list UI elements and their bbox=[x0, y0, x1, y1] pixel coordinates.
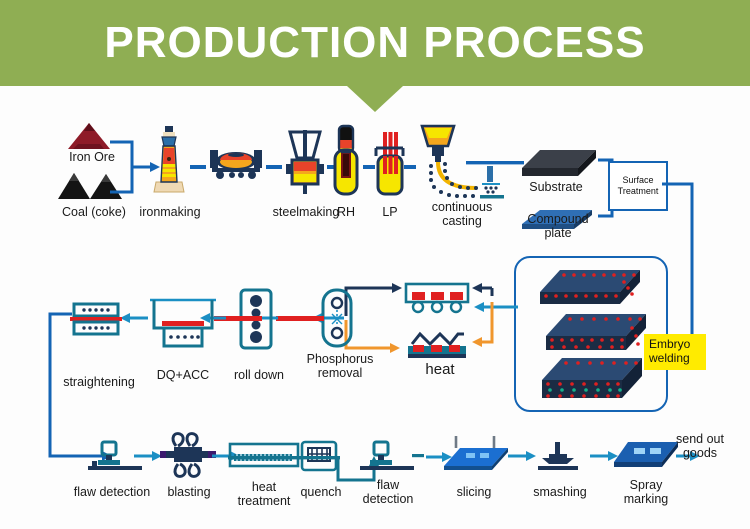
press-icon bbox=[534, 440, 582, 472]
dq-acc-label: DQ+ACC bbox=[152, 368, 214, 382]
reheat-furnace-icon bbox=[400, 282, 476, 368]
production-process-diagram: PRODUCTION PROCESS Iron Ore Coal (coke) bbox=[0, 0, 750, 529]
header-banner: PRODUCTION PROCESS bbox=[0, 0, 750, 86]
flaw-detection-1-label: flaw detection bbox=[52, 485, 172, 499]
iron-ore-mound-icon bbox=[62, 122, 116, 152]
hot-plate-strip-1 bbox=[276, 315, 326, 323]
smashing-label: smashing bbox=[524, 485, 596, 499]
welded-stack-icon bbox=[524, 266, 656, 402]
cooling-unit-icon bbox=[148, 294, 218, 350]
coal-coke-label: Coal (coke) bbox=[44, 205, 144, 219]
dash-connector-2 bbox=[266, 164, 286, 170]
continuous-casting-label: continuous casting bbox=[416, 200, 508, 228]
heat-right-loop-connector bbox=[466, 284, 500, 350]
slicing-label: slicing bbox=[442, 485, 506, 499]
ironmaking-label: ironmaking bbox=[134, 205, 206, 219]
embryo-welding-label: Embryo welding bbox=[644, 334, 706, 370]
torpedo-car-icon bbox=[208, 146, 264, 186]
lp-ladle-icon bbox=[372, 130, 408, 200]
slicing-plate-icon bbox=[442, 434, 512, 474]
substrate-label: Substrate bbox=[510, 180, 602, 194]
page-title: PRODUCTION PROCESS bbox=[0, 0, 750, 86]
casting-to-substrate-connector bbox=[466, 160, 528, 168]
roll-down-label: roll down bbox=[224, 368, 294, 382]
blasting-label: blasting bbox=[156, 485, 222, 499]
blast-furnace-icon bbox=[152, 126, 186, 196]
substrate-slab-icon bbox=[520, 148, 598, 184]
heat-label: heat bbox=[408, 362, 472, 379]
rh-degasser-icon bbox=[330, 124, 362, 200]
flaw-detection-2-label: flaw detection bbox=[344, 478, 432, 506]
send-out-goods-label: send out goods bbox=[654, 432, 746, 460]
phosphorus-removal-label: Phosphorus removal bbox=[296, 352, 384, 380]
compound-plate-label: Compound plate bbox=[512, 212, 604, 241]
spray-marking-label: Spray marking bbox=[606, 478, 686, 506]
heat-treat-furnace-icon bbox=[228, 442, 300, 474]
surface-treatment-down-connector bbox=[662, 180, 702, 348]
ultrasonic-probe-icon-2 bbox=[358, 440, 416, 472]
rh-label: RH bbox=[328, 205, 364, 219]
banner-notch-icon bbox=[347, 86, 403, 112]
shot-blaster-icon bbox=[160, 432, 216, 480]
dash-connector-1 bbox=[190, 164, 210, 170]
converter-ladle-icon bbox=[284, 128, 326, 198]
surface-treatment-box[interactable]: Surface Treatment bbox=[608, 161, 668, 211]
lp-label: LP bbox=[372, 205, 408, 219]
